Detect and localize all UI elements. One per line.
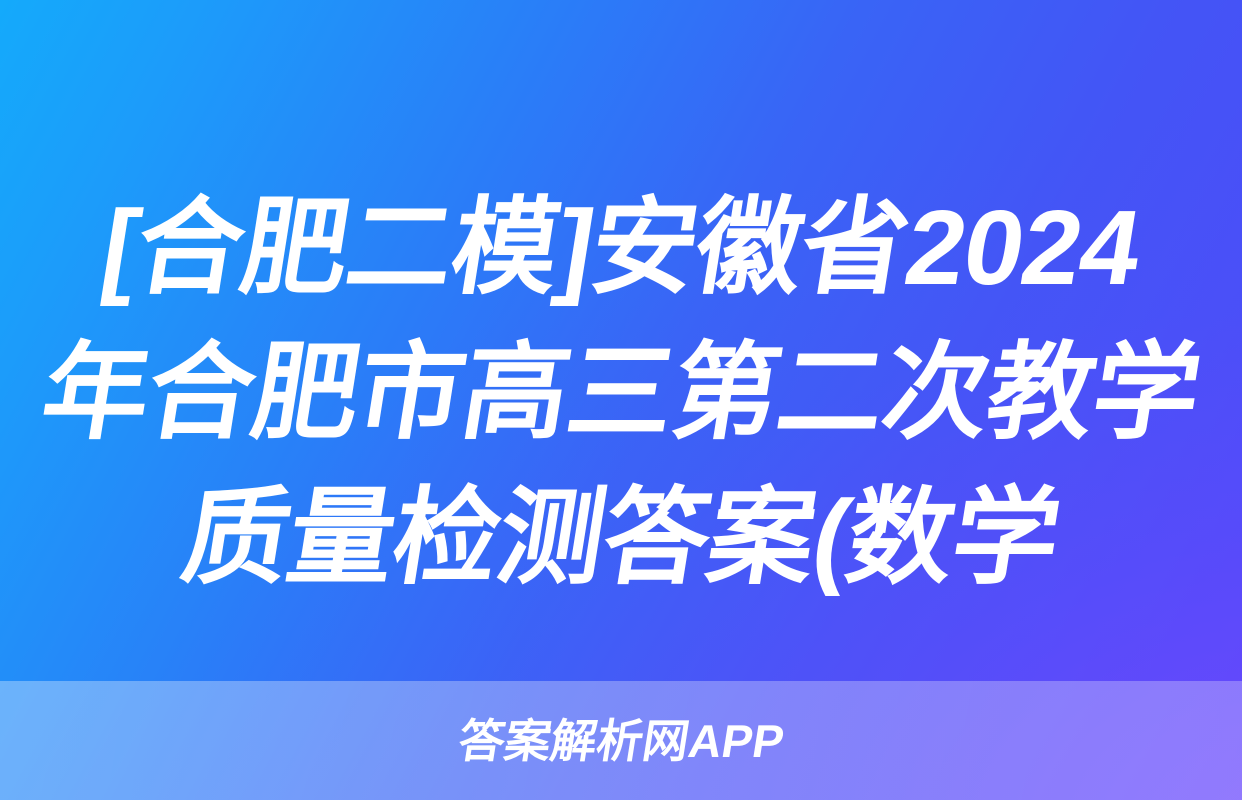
page-title: [合肥二模]安徽省2024 年合肥市高三第二次教学 质量检测答案(数学 xyxy=(0,176,1242,611)
title-line-2: 年合肥市高三第二次教学 xyxy=(29,321,1214,466)
cover-card: [合肥二模]安徽省2024 年合肥市高三第二次教学 质量检测答案(数学 答案解析… xyxy=(0,0,1242,800)
title-line-1: [合肥二模]安徽省2024 xyxy=(29,176,1214,321)
app-promo-banner: 答案解析网APP xyxy=(0,681,1242,800)
app-promo-label: 答案解析网APP xyxy=(455,718,787,764)
title-line-3: 质量检测答案(数学 xyxy=(29,466,1214,611)
